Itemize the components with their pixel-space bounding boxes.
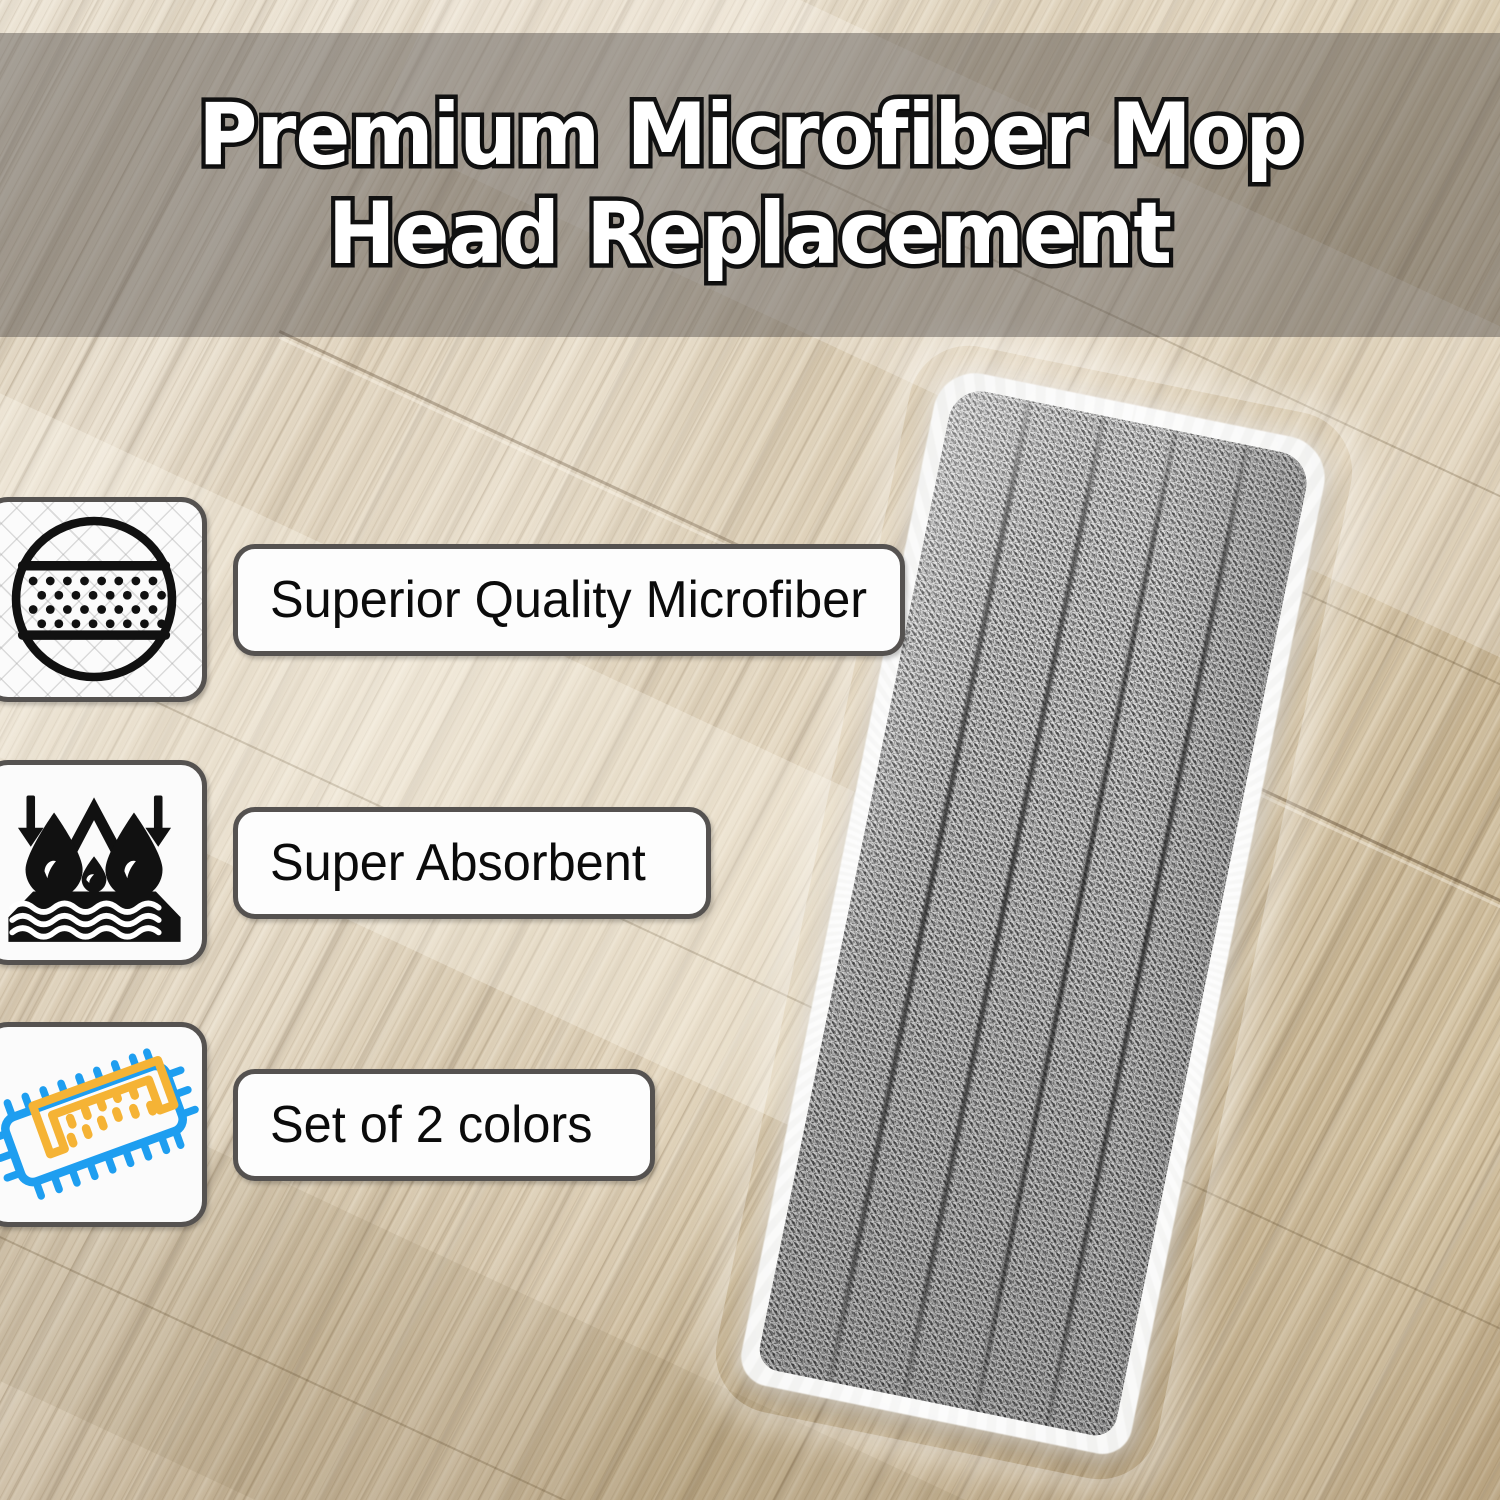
page-title-line-2: Head Replacement: [328, 190, 1171, 279]
absorbent-droplets-icon: [0, 765, 202, 960]
feature-row-two-colors: Set of 2 colors: [0, 1022, 655, 1227]
two-color-mop-pads-icon: [0, 1027, 202, 1222]
product-poster: Premium Microfiber Mop Head Replacement: [0, 0, 1500, 1500]
feature-label-text: Superior Quality Microfiber: [270, 570, 867, 630]
feature-label-pill-absorbent: Super Absorbent: [233, 807, 711, 919]
microfiber-fabric-icon: [0, 502, 202, 697]
feature-label-text: Super Absorbent: [270, 833, 646, 893]
title-banner: Premium Microfiber Mop Head Replacement: [0, 33, 1500, 337]
feature-row-microfiber: Superior Quality Microfiber: [0, 497, 905, 702]
microfiber-fabric-icon-box: [0, 497, 207, 702]
feature-label-pill-two-colors: Set of 2 colors: [233, 1069, 655, 1181]
two-color-mop-pads-icon-box: [0, 1022, 207, 1227]
feature-label-pill-microfiber: Superior Quality Microfiber: [233, 544, 905, 656]
page-title-line-1: Premium Microfiber Mop: [198, 91, 1302, 180]
feature-label-text: Set of 2 colors: [270, 1095, 592, 1155]
feature-row-absorbent: Super Absorbent: [0, 760, 711, 965]
absorbent-droplets-icon-box: [0, 760, 207, 965]
